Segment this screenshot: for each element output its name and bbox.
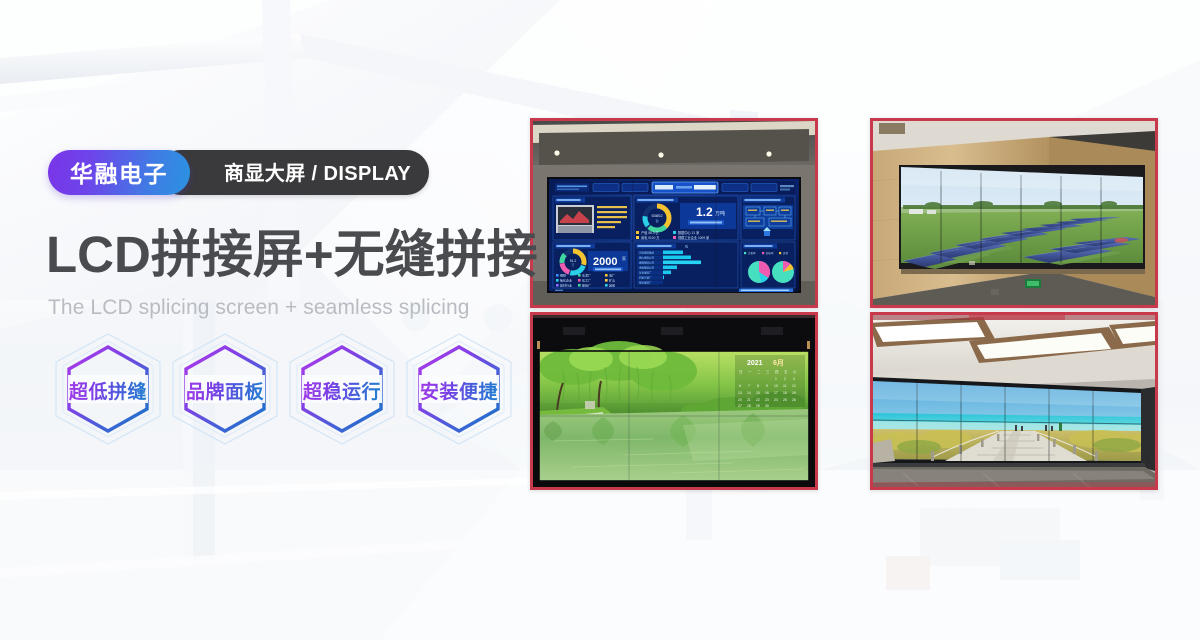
svg-text:1.2: 1.2 — [696, 205, 713, 219]
svg-text:超标率: 超标率 — [766, 251, 774, 255]
svg-text:21: 21 — [747, 398, 751, 402]
photo-beach-wall[interactable] — [870, 312, 1158, 490]
svg-text:7: 7 — [748, 384, 750, 388]
svg-text:53802: 53802 — [651, 213, 663, 218]
svg-text:6月: 6月 — [773, 359, 784, 367]
feature-label: 超低拼缝 — [69, 377, 147, 404]
svg-text:其他: 其他 — [609, 283, 615, 288]
svg-text:其他: 其他 — [783, 251, 789, 255]
svg-text:河北钢铁集团: 河北钢铁集团 — [639, 250, 655, 254]
feature-label: 超稳运行 — [303, 377, 381, 404]
svg-text:22: 22 — [756, 398, 760, 402]
svg-text:3: 3 — [793, 377, 795, 381]
svg-text:25: 25 — [783, 398, 787, 402]
svg-text:11: 11 — [783, 384, 787, 388]
svg-text:2000: 2000 — [593, 256, 617, 268]
banner-stage: 商显大屏 / DISPLAY 华融电子 LCD拼接屏+无缝拼接 The LCD … — [0, 0, 1200, 640]
svg-text:29: 29 — [756, 404, 760, 408]
feature-badge-1[interactable]: 品牌面板 — [165, 330, 285, 448]
feature-label: 品牌面板 — [186, 377, 264, 404]
svg-text:唐山钢铁公司: 唐山钢铁公司 — [639, 255, 655, 259]
feature-badge-2[interactable]: 超稳运行 — [282, 330, 402, 448]
svg-text:20: 20 — [738, 398, 742, 402]
svg-text:合格率: 合格率 — [748, 251, 756, 255]
page-subtitle: The LCD splicing screen + seamless splic… — [48, 296, 470, 320]
svg-text:9: 9 — [766, 384, 768, 388]
svg-text:26: 26 — [792, 398, 796, 402]
svg-text:10: 10 — [774, 384, 778, 388]
svg-text:14: 14 — [747, 391, 751, 395]
svg-text:水泥厂: 水泥厂 — [582, 273, 591, 278]
svg-text:24: 24 — [774, 398, 778, 402]
svg-text:8: 8 — [757, 384, 759, 388]
page-title: LCD拼接屏+无缝拼接 — [46, 228, 538, 282]
svg-text:2021: 2021 — [747, 360, 763, 367]
svg-text:规模工业企业 1009 家: 规模工业企业 1009 家 — [678, 235, 710, 240]
feature-badge-0[interactable]: 超低拼缝 — [48, 330, 168, 448]
svg-text:焦化企业: 焦化企业 — [560, 278, 572, 283]
svg-text:日: 日 — [739, 370, 742, 374]
svg-text:万吨: 万吨 — [715, 210, 725, 217]
svg-text:化工厂: 化工厂 — [582, 278, 591, 283]
svg-text:18: 18 — [783, 391, 787, 395]
svg-text:23: 23 — [765, 398, 769, 402]
photo-dashboard[interactable]: 53802 台 1.2 万吨 产值 58.3 亿 数据中心 21 家 用电 91… — [530, 118, 818, 308]
svg-text:12: 12 — [792, 384, 796, 388]
svg-text:电厂: 电厂 — [609, 273, 615, 278]
svg-text:2: 2 — [784, 377, 786, 381]
photo-park-scene[interactable]: 2021 6月 日一二 三四五 六 123 678 9101112 131415… — [530, 312, 818, 490]
feature-badge-3[interactable]: 安装便捷 — [399, 330, 519, 448]
svg-text:建材行业: 建材行业 — [560, 283, 572, 288]
svg-text:数据中心 21 家: 数据中心 21 家 — [678, 230, 700, 235]
svg-text:钢铁: 钢铁 — [560, 273, 566, 278]
svg-text:产值 58.3 亿: 产值 58.3 亿 — [641, 230, 659, 235]
svg-text:用电 9100 万: 用电 9100 万 — [641, 235, 659, 240]
svg-text:19: 19 — [792, 391, 796, 395]
brand-name-pill: 华融电子 — [48, 150, 190, 195]
feature-badge-row: 超低拼缝 品牌面板 — [48, 330, 517, 448]
svg-text:27: 27 — [738, 404, 742, 408]
svg-text:邯郸钢铁公司: 邯郸钢铁公司 — [639, 260, 655, 264]
svg-text:17: 17 — [774, 391, 778, 395]
svg-text:石家庄钢厂: 石家庄钢厂 — [639, 275, 652, 279]
brand-category-pill: 商显大屏 / DISPLAY — [158, 150, 429, 195]
svg-text:邢台钢铁厂: 邢台钢铁厂 — [639, 280, 652, 284]
svg-text:30: 30 — [765, 404, 769, 408]
svg-text:家: 家 — [622, 255, 626, 261]
svg-text:玻璃厂: 玻璃厂 — [582, 283, 591, 288]
feature-label: 安装便捷 — [420, 377, 498, 404]
svg-text:15: 15 — [756, 391, 760, 395]
brand-name-label: 华融电子 — [70, 155, 168, 189]
brand-category-label: 商显大屏 / DISPLAY — [224, 157, 411, 186]
photo-solar-wall[interactable] — [870, 118, 1158, 308]
svg-text:16: 16 — [765, 391, 769, 395]
svg-text:28: 28 — [747, 404, 751, 408]
svg-text:承德钢铁公司: 承德钢铁公司 — [639, 265, 655, 269]
svg-text:吨: 吨 — [685, 244, 688, 249]
svg-text:6: 6 — [739, 384, 741, 388]
svg-text:万: 万 — [571, 263, 574, 267]
svg-text:矿山: 矿山 — [609, 278, 615, 283]
svg-text:13: 13 — [738, 391, 742, 395]
svg-text:1: 1 — [775, 377, 777, 381]
svg-text:宣化钢铁厂: 宣化钢铁厂 — [639, 270, 652, 274]
